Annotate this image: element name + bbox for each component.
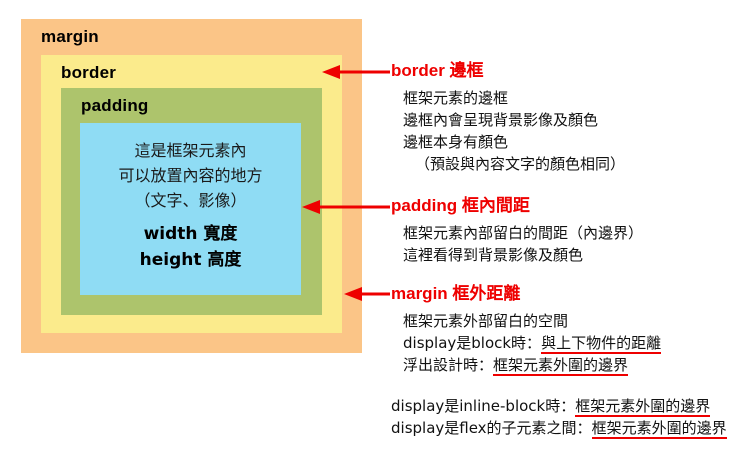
callout-margin-title: margin 框外距離 [391, 284, 661, 304]
callout-margin: margin 框外距離 框架元素外部留白的空間 display是block時：與… [391, 284, 661, 376]
callout-border: border 邊框 框架元素的邊框 邊框內會呈現背景影像及顏色 邊框本身有顏色 … [391, 61, 625, 175]
callout-margin-line: display是block時：與上下物件的距離 [403, 332, 661, 354]
margin-layer: margin border padding 這是框架元素內 可以放置內容的地方 … [21, 19, 362, 353]
callout-margin-line-prefix: display是block時： [403, 334, 541, 352]
callout-padding-line: 這裡看得到背景影像及顏色 [403, 244, 643, 266]
callout-margin-line-underlined: 框架元素外圍的邊界 [493, 356, 628, 376]
border-layer-label: border [61, 63, 116, 83]
footer-note-line: display是inline-block時：框架元素外圍的邊界 [391, 395, 727, 417]
callout-margin-line: 框架元素外部留白的空間 [403, 310, 661, 332]
border-callout-arrow [322, 65, 390, 79]
content-width-label: width 寬度 [144, 221, 238, 247]
footer-notes: display是inline-block時：框架元素外圍的邊界 display是… [391, 395, 727, 439]
callout-border-line: （預設與內容文字的顏色相同） [403, 153, 625, 175]
box-model-diagram: margin border padding 這是框架元素內 可以放置內容的地方 … [21, 19, 362, 353]
callout-border-line: 邊框本身有顏色 [403, 131, 625, 153]
padding-layer: padding 這是框架元素內 可以放置內容的地方 （文字、影像） width … [61, 88, 322, 315]
callout-padding-title: padding 框內間距 [391, 196, 643, 216]
callout-border-body: 框架元素的邊框 邊框內會呈現背景影像及顏色 邊框本身有顏色 （預設與內容文字的顏… [403, 87, 625, 175]
content-layer: 這是框架元素內 可以放置內容的地方 （文字、影像） width 寬度 heigh… [80, 123, 301, 295]
callout-padding-body: 框架元素內部留白的間距（內邊界） 這裡看得到背景影像及顏色 [403, 222, 643, 266]
footer-note-underlined: 框架元素外圍的邊界 [592, 419, 727, 439]
footer-note-line: display是flex的子元素之間：框架元素外圍的邊界 [391, 417, 727, 439]
content-height-label: height 高度 [140, 247, 242, 273]
content-text-line: （文字、影像） [134, 188, 246, 213]
callout-padding: padding 框內間距 框架元素內部留白的間距（內邊界） 這裡看得到背景影像及… [391, 196, 643, 266]
callout-border-line: 邊框內會呈現背景影像及顏色 [403, 109, 625, 131]
footer-note-underlined: 框架元素外圍的邊界 [575, 397, 710, 417]
border-layer: border padding 這是框架元素內 可以放置內容的地方 （文字、影像）… [41, 55, 342, 333]
callout-border-line: 框架元素的邊框 [403, 87, 625, 109]
callout-margin-line-prefix: 浮出設計時： [403, 356, 493, 374]
footer-note-prefix: display是inline-block時： [391, 397, 575, 415]
footer-note-prefix: display是flex的子元素之間： [391, 419, 592, 437]
content-text-line: 可以放置內容的地方 [118, 163, 262, 188]
padding-layer-label: padding [81, 96, 149, 116]
callout-margin-line: 浮出設計時：框架元素外圍的邊界 [403, 354, 661, 376]
callout-margin-body: 框架元素外部留白的空間 display是block時：與上下物件的距離 浮出設計… [403, 310, 661, 376]
margin-callout-arrow [344, 287, 390, 301]
callout-padding-line: 框架元素內部留白的間距（內邊界） [403, 222, 643, 244]
callout-border-title: border 邊框 [391, 61, 625, 81]
padding-callout-arrow [302, 200, 390, 214]
callout-margin-line-underlined: 與上下物件的距離 [541, 334, 661, 354]
margin-layer-label: margin [41, 27, 99, 47]
content-text-line: 這是框架元素內 [134, 138, 246, 163]
